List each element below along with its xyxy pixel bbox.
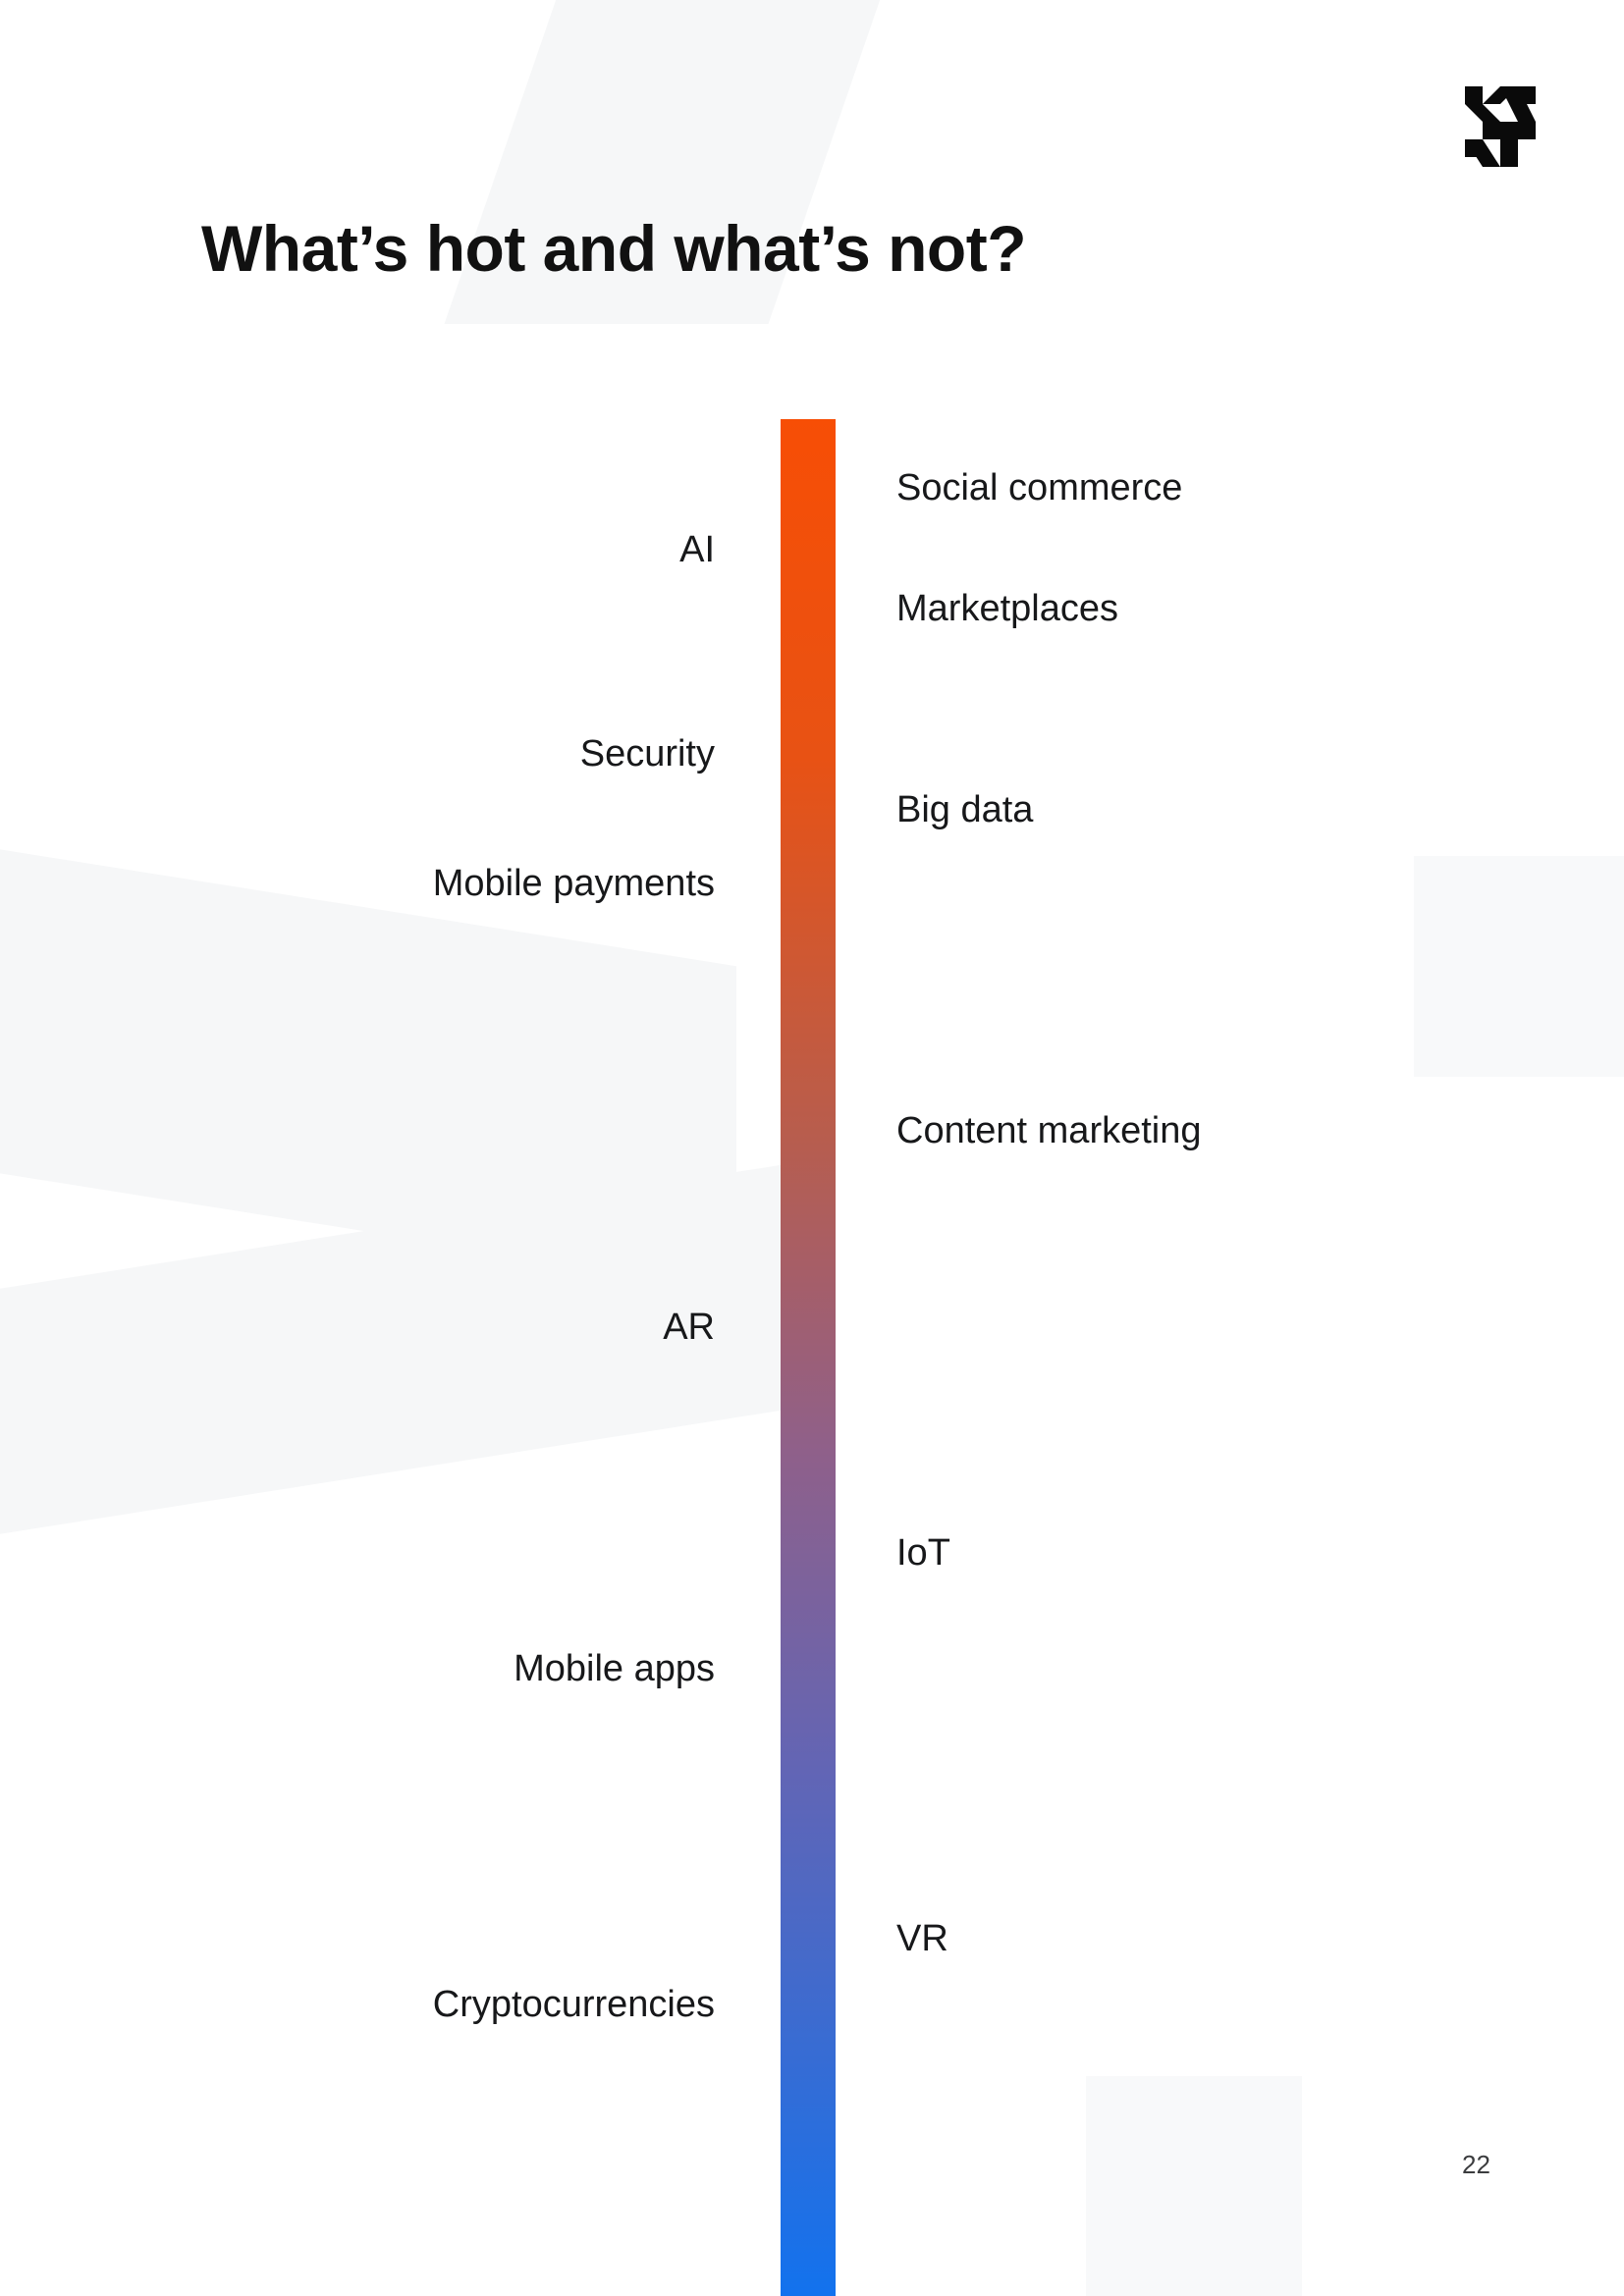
left-label-5: Cryptocurrencies [433,1986,715,2023]
right-label-0: Social commerce [896,469,1182,507]
left-label-4: Mobile apps [514,1650,715,1687]
decor-chevron-band-lower [0,1164,785,1575]
left-label-0: AI [679,531,715,568]
right-label-3: Content marketing [896,1112,1202,1149]
page-number: 22 [1462,2150,1490,2180]
right-label-4: IoT [896,1534,950,1572]
left-label-3: AR [663,1308,715,1346]
company-logo-icon [1461,80,1547,167]
decor-rectangle-bottom [1086,2076,1302,2296]
right-label-2: Big data [896,791,1033,828]
left-label-2: Mobile payments [433,865,715,902]
left-label-1: Security [580,735,715,773]
right-label-5: VR [896,1920,948,1957]
hot-to-not-gradient-scale [781,419,836,2296]
decor-rectangle-right [1414,856,1624,1077]
page-title: What’s hot and what’s not? [201,211,1026,286]
slide-canvas: What’s hot and what’s not? AISecurityMob… [0,0,1624,2296]
right-label-1: Marketplaces [896,590,1118,627]
